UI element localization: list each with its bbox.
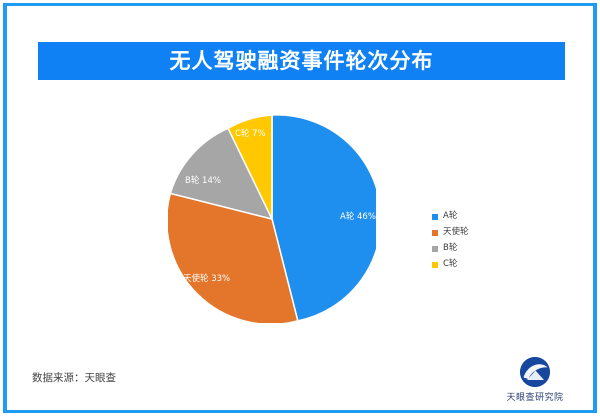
pie-chart: A轮 46% 天使轮 33% B轮 14% C轮 7%	[150, 105, 420, 330]
legend-item-c[interactable]: C轮	[432, 257, 502, 272]
pie-label-angel: 天使轮 33%	[183, 275, 230, 284]
legend-item-b[interactable]: B轮	[432, 241, 502, 256]
chart-page: 无人驾驶融资事件轮次分布 A轮 46% 天使轮 33% B轮 14% C轮 7%…	[0, 0, 600, 417]
legend-swatch-icon	[432, 214, 438, 220]
pie-label-a: A轮 46%	[340, 213, 376, 222]
legend-swatch-icon	[432, 230, 438, 236]
title-banner: 无人驾驶融资事件轮次分布	[38, 42, 565, 80]
frame-border-right	[593, 3, 597, 413]
legend-label: C轮	[443, 260, 457, 269]
pie-label-b: B轮 14%	[185, 177, 221, 186]
legend-swatch-icon	[432, 246, 438, 252]
frame-border-bottom	[3, 410, 597, 413]
legend-item-angel[interactable]: 天使轮	[432, 225, 502, 240]
brand-logo: 天眼查研究院	[492, 357, 578, 403]
frame-border-left	[3, 3, 7, 413]
legend-label: A轮	[443, 212, 457, 221]
legend-label: B轮	[443, 244, 457, 253]
legend-label: 天使轮	[443, 228, 469, 237]
pie-label-c: C轮 7%	[235, 130, 266, 139]
brand-name: 天眼查研究院	[506, 390, 563, 403]
tianyancha-logo-icon	[520, 357, 550, 387]
page-title: 无人驾驶融资事件轮次分布	[170, 51, 434, 72]
frame-border-top	[3, 3, 597, 6]
legend-swatch-icon	[432, 262, 438, 268]
legend-item-a[interactable]: A轮	[432, 209, 502, 224]
chart-legend: A轮 天使轮 B轮 C轮	[432, 209, 502, 273]
data-source-note: 数据来源：天眼查	[32, 370, 116, 385]
